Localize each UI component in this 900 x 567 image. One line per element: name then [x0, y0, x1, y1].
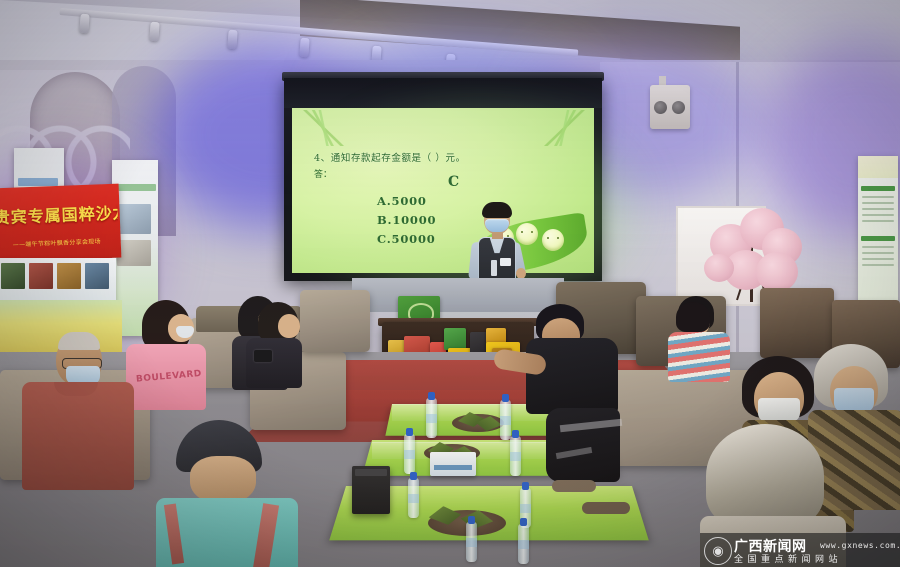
presenter-hair [482, 202, 512, 218]
trash-bin [352, 466, 390, 514]
wall-photo [57, 263, 81, 289]
hair [58, 332, 100, 350]
projected-slide: 4、通知存款起存金额是（ ）元。 答： C A.5000 B.10000 C.5… [292, 108, 594, 273]
slide-options: A.5000 B.10000 C.50000 [377, 192, 436, 249]
poster-text-line [862, 252, 894, 254]
standee-photo [117, 204, 151, 234]
poster-text-line [862, 264, 894, 266]
attendee-man-black-adidas [508, 304, 638, 514]
face-mask-icon [758, 398, 800, 422]
bamboo-leaf-icon [296, 110, 352, 146]
presenter-name-badge [500, 258, 511, 266]
mascot-face [542, 229, 564, 251]
attendee-elderly-man-red [22, 334, 140, 494]
wall-speaker-icon [650, 85, 690, 129]
attendee-woman-phone [236, 302, 306, 388]
attendee-woman-back-right [672, 302, 724, 372]
poster-text-line [862, 258, 894, 260]
poster-section-bar [861, 236, 895, 241]
standee-band [18, 178, 58, 186]
standee-photo [117, 240, 151, 266]
smartphone-icon[interactable] [254, 350, 272, 362]
face-mask-icon [485, 219, 509, 232]
hair [706, 424, 824, 528]
poster-text-line [862, 214, 894, 216]
torso [246, 338, 302, 388]
torso [526, 338, 618, 414]
poster-text-line [862, 202, 894, 204]
poster-section-bar [861, 186, 895, 191]
blossom-cluster [704, 254, 734, 282]
photo-scene: 4、通知存款起存金额是（ ）元。 答： C A.5000 B.10000 C.5… [0, 0, 900, 567]
right-wall-poster [858, 156, 898, 304]
poster-header [858, 156, 898, 178]
track-spotlight [227, 30, 237, 50]
slide-option: B.10000 [377, 211, 436, 230]
poster-text-line [862, 246, 894, 248]
bamboo-leaf-icon [536, 110, 592, 146]
wall-photo [29, 263, 53, 289]
news-site-watermark: ◉ 广西新闻网 www.gxnews.com.cn 全国重点新闻网站 [700, 533, 900, 567]
slide-answer-value: C [448, 174, 459, 190]
gift-item [444, 328, 466, 350]
watermark-url: www.gxnews.com.cn [820, 541, 900, 550]
track-spotlight [79, 14, 89, 34]
water-bottle [404, 434, 415, 474]
poster-text-line [862, 196, 894, 198]
track-spotlight [299, 38, 309, 58]
attendee-man-cap-teal [150, 420, 300, 567]
sofa [300, 290, 370, 352]
water-bottle [518, 524, 529, 564]
photo-display-wall [0, 258, 116, 304]
blossom-cluster [756, 252, 798, 292]
event-banner: 贵宾专属国粹沙龙活动 ——端午节粽叶飘香分享会现场 [0, 184, 121, 263]
slide-question: 4、通知存款起存金额是（ ）元。 [314, 152, 564, 166]
banner-subline: ——端午节粽叶飘香分享会现场 [0, 236, 117, 250]
tissue-box [430, 452, 476, 476]
gxnews-logo-icon: ◉ [704, 537, 732, 565]
water-bottle [426, 398, 437, 438]
slide-answer-label: 答： [314, 167, 332, 180]
projection-screen-letterbox [284, 78, 602, 108]
water-bottle [408, 478, 419, 518]
standee-band [116, 184, 156, 191]
poster-text-line [862, 208, 894, 210]
face-mask-icon [834, 388, 874, 412]
presenter-lanyard [491, 260, 497, 276]
sandal [552, 480, 596, 492]
poster-text-line [862, 220, 894, 222]
slide-option: C.50000 [377, 230, 436, 249]
head [190, 456, 256, 504]
wall-photo [1, 263, 25, 289]
track-spotlight [149, 22, 159, 42]
water-bottle [466, 522, 477, 562]
head [278, 314, 300, 338]
torso [22, 382, 134, 490]
watermark-tagline: 全国重点新闻网站 [734, 552, 842, 565]
slide-option: A.5000 [377, 192, 436, 211]
wall-photo [85, 263, 109, 289]
hair [676, 302, 710, 332]
sandal [582, 502, 630, 514]
banner-headline: 贵宾专属国粹沙龙活动 [0, 200, 118, 229]
